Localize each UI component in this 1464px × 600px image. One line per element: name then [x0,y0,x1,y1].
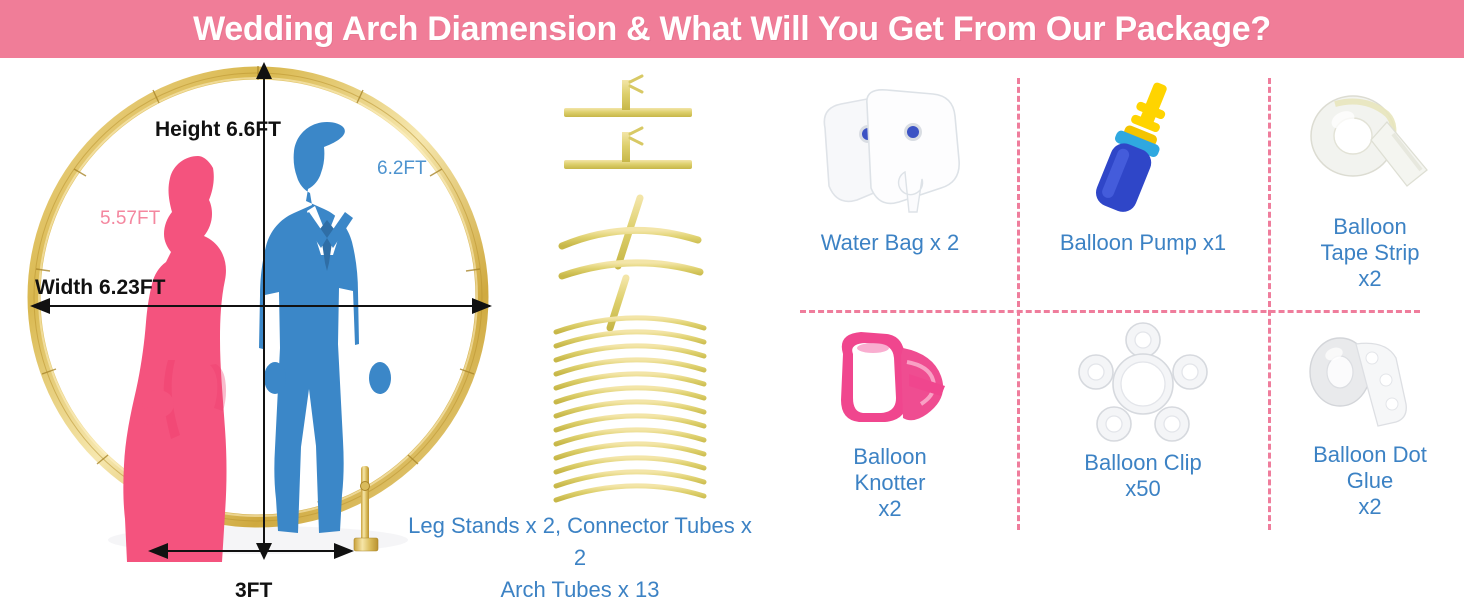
width-label: Width 6.23FT [35,276,165,300]
dot-glue-roll-icon [1300,328,1440,436]
bride-height-label: 5.57FT [100,208,160,230]
package-item-balloon-dot-glue: Balloon Dot Glue x2 [1280,328,1460,520]
leg-stand-2 [564,128,692,169]
leg-stand-1 [564,76,692,117]
balloon-knotter-art [815,328,965,438]
grid-divider-vertical-2 [1268,78,1271,530]
package-item-balloon-knotter: Balloon Knotter x2 [770,328,1010,522]
arch-parts-illustration [548,70,748,510]
grid-divider-vertical-1 [1017,78,1020,530]
parts-caption-line-1: Leg Stands x 2, Connector Tubes x 2 [400,510,760,574]
balloon-clip-label: Balloon Clip x50 [1084,450,1201,502]
infographic-root: Wedding Arch Diamension & What Will You … [0,0,1464,600]
grid-divider-horizontal [800,310,1420,313]
base-dimension-line [155,550,350,552]
balloon-knotter-icon [815,328,965,438]
tape-roll-icon [1295,78,1445,208]
groom-height-label: 6.2FT [377,158,427,180]
package-item-balloon-tape-strip: Balloon Tape Strip x2 [1280,78,1460,292]
balloon-tape-strip-label: Balloon Tape Strip x2 [1320,214,1419,292]
parts-caption: Leg Stands x 2, Connector Tubes x 2 Arch… [400,510,760,600]
balloon-tape-strip-art [1295,78,1445,208]
balloon-knotter-label: Balloon Knotter x2 [853,444,926,522]
balloon-pump-label: Balloon Pump x1 [1060,230,1226,256]
water-bag-icon [805,84,975,224]
water-bag-art [805,84,975,224]
package-item-water-bag: Water Bag x 2 [770,84,1010,256]
arch-tube-stack [556,318,704,500]
package-contents-grid: Water Bag x 2 Balloon Pump x1 [760,60,1464,540]
balloon-dot-glue-label: Balloon Dot Glue x2 [1313,442,1427,520]
base-width-label: 3FT [235,579,272,600]
width-dimension-line [35,305,490,307]
water-bag-label: Water Bag x 2 [821,230,960,256]
balloon-pump-art [1068,78,1218,224]
base-arrow-left-icon [148,542,170,560]
height-label: Height 6.6FT [155,118,281,142]
width-arrow-right-icon [470,297,492,315]
balloon-clip-icon [1068,322,1218,444]
balloon-dot-glue-art [1300,328,1440,436]
page-title: Wedding Arch Diamension & What Will You … [193,10,1271,49]
balloon-clip-art [1068,322,1218,444]
header-banner: Wedding Arch Diamension & What Will You … [0,0,1464,58]
base-arrow-right-icon [332,542,354,560]
package-item-balloon-pump: Balloon Pump x1 [1028,78,1258,256]
height-arrow-up-icon [255,62,273,82]
parts-caption-line-2: Arch Tubes x 13 [400,574,760,600]
balloon-pump-icon [1068,78,1218,224]
connector-arch-tube-b [562,263,700,276]
package-item-balloon-clip: Balloon Clip x50 [1028,322,1258,502]
